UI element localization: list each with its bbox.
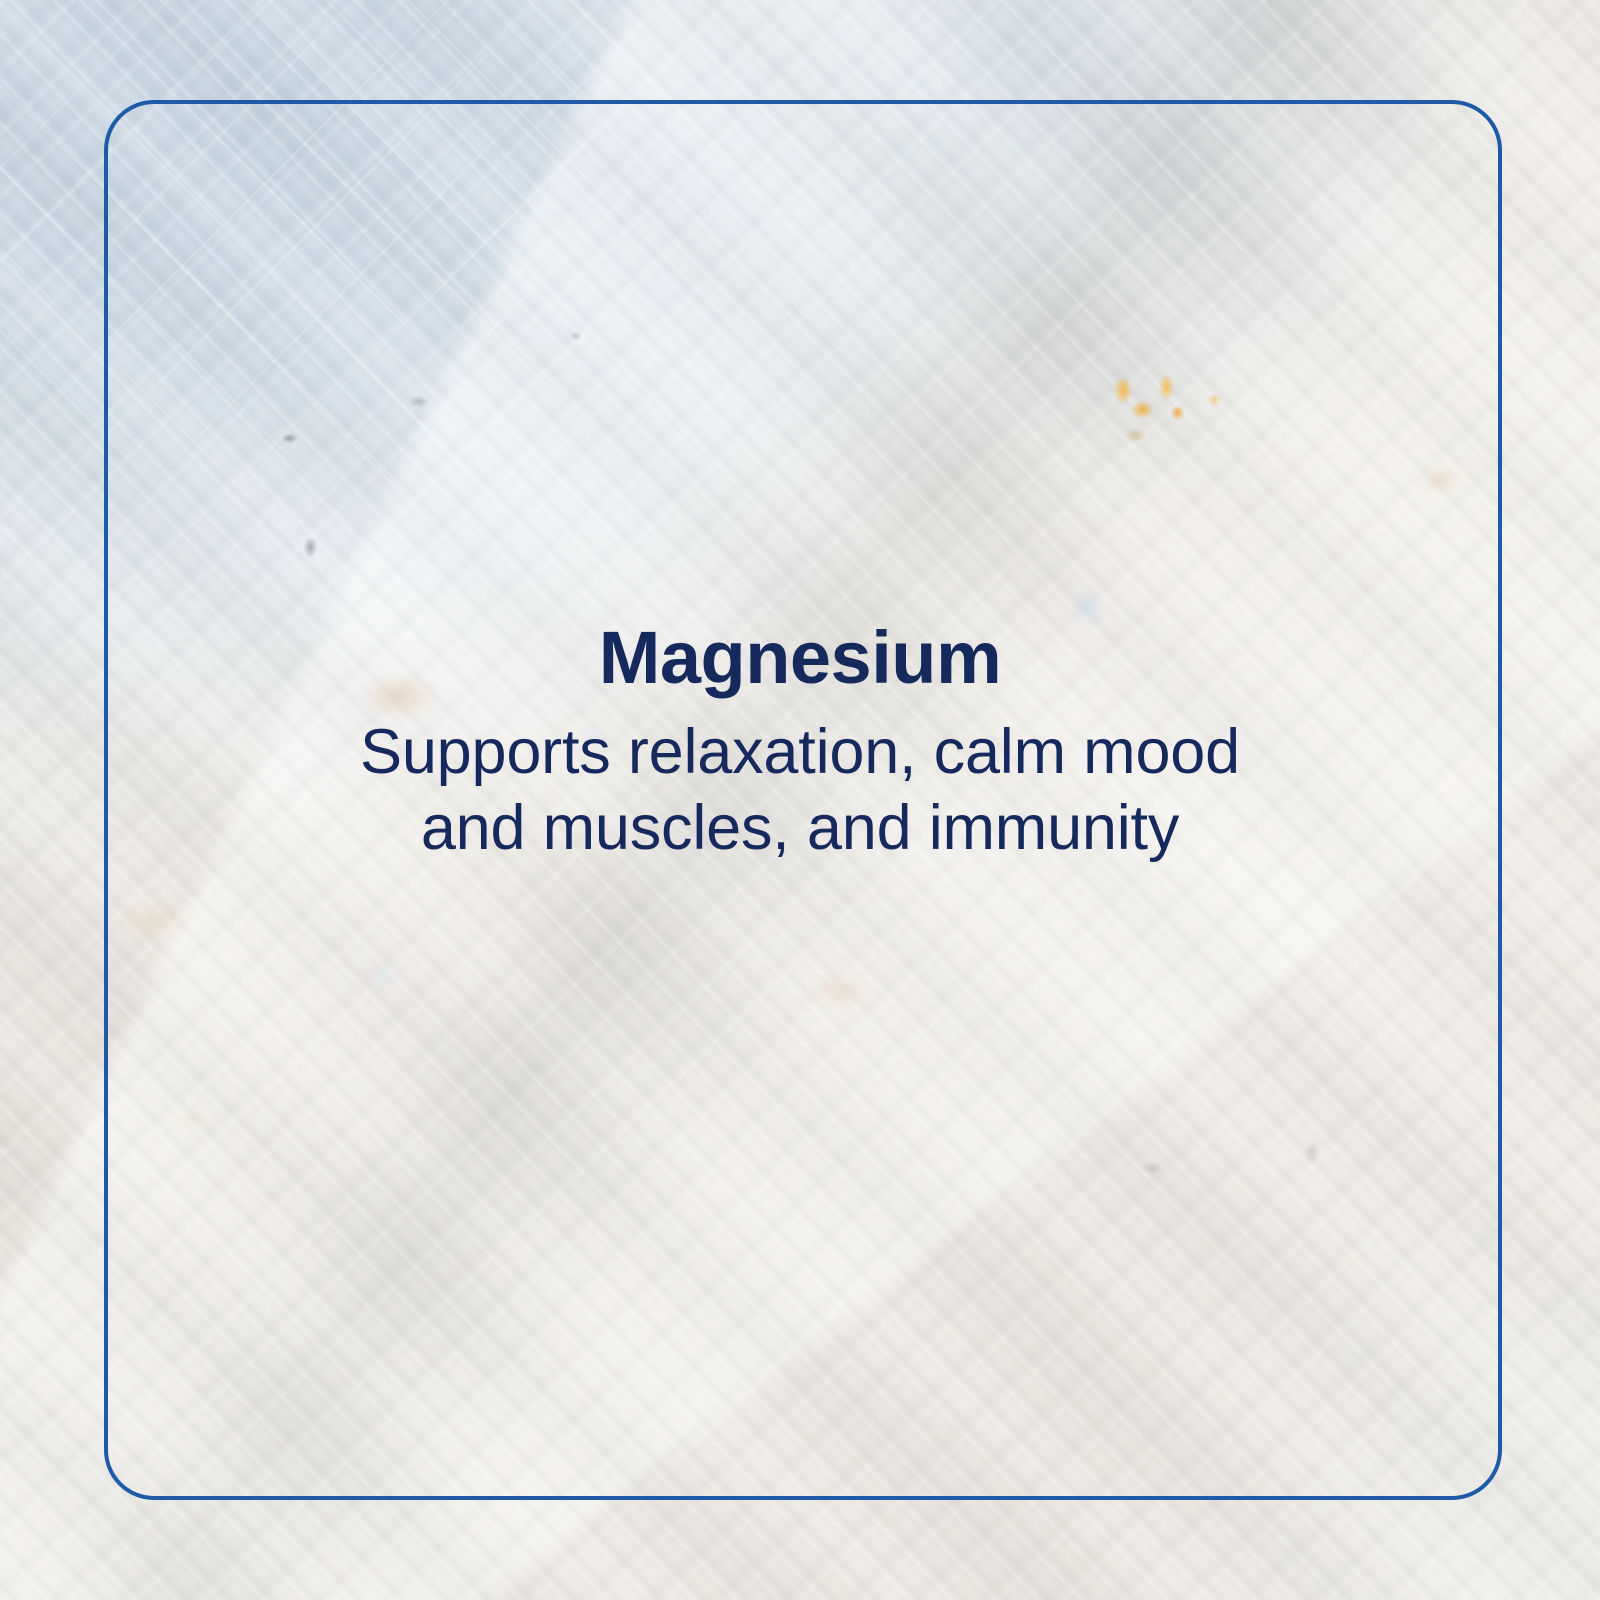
ingredient-benefits-line-2: and muscles, and immunity <box>0 791 1600 867</box>
ingredient-card: Magnesium Supports relaxation, calm mood… <box>0 0 1600 1600</box>
ingredient-benefits-line-1: Supports relaxation, calm mood <box>0 715 1600 791</box>
card-text-block: Magnesium Supports relaxation, calm mood… <box>0 620 1600 866</box>
ingredient-title: Magnesium <box>0 620 1600 697</box>
ingredient-benefits: Supports relaxation, calm mood and muscl… <box>0 715 1600 866</box>
